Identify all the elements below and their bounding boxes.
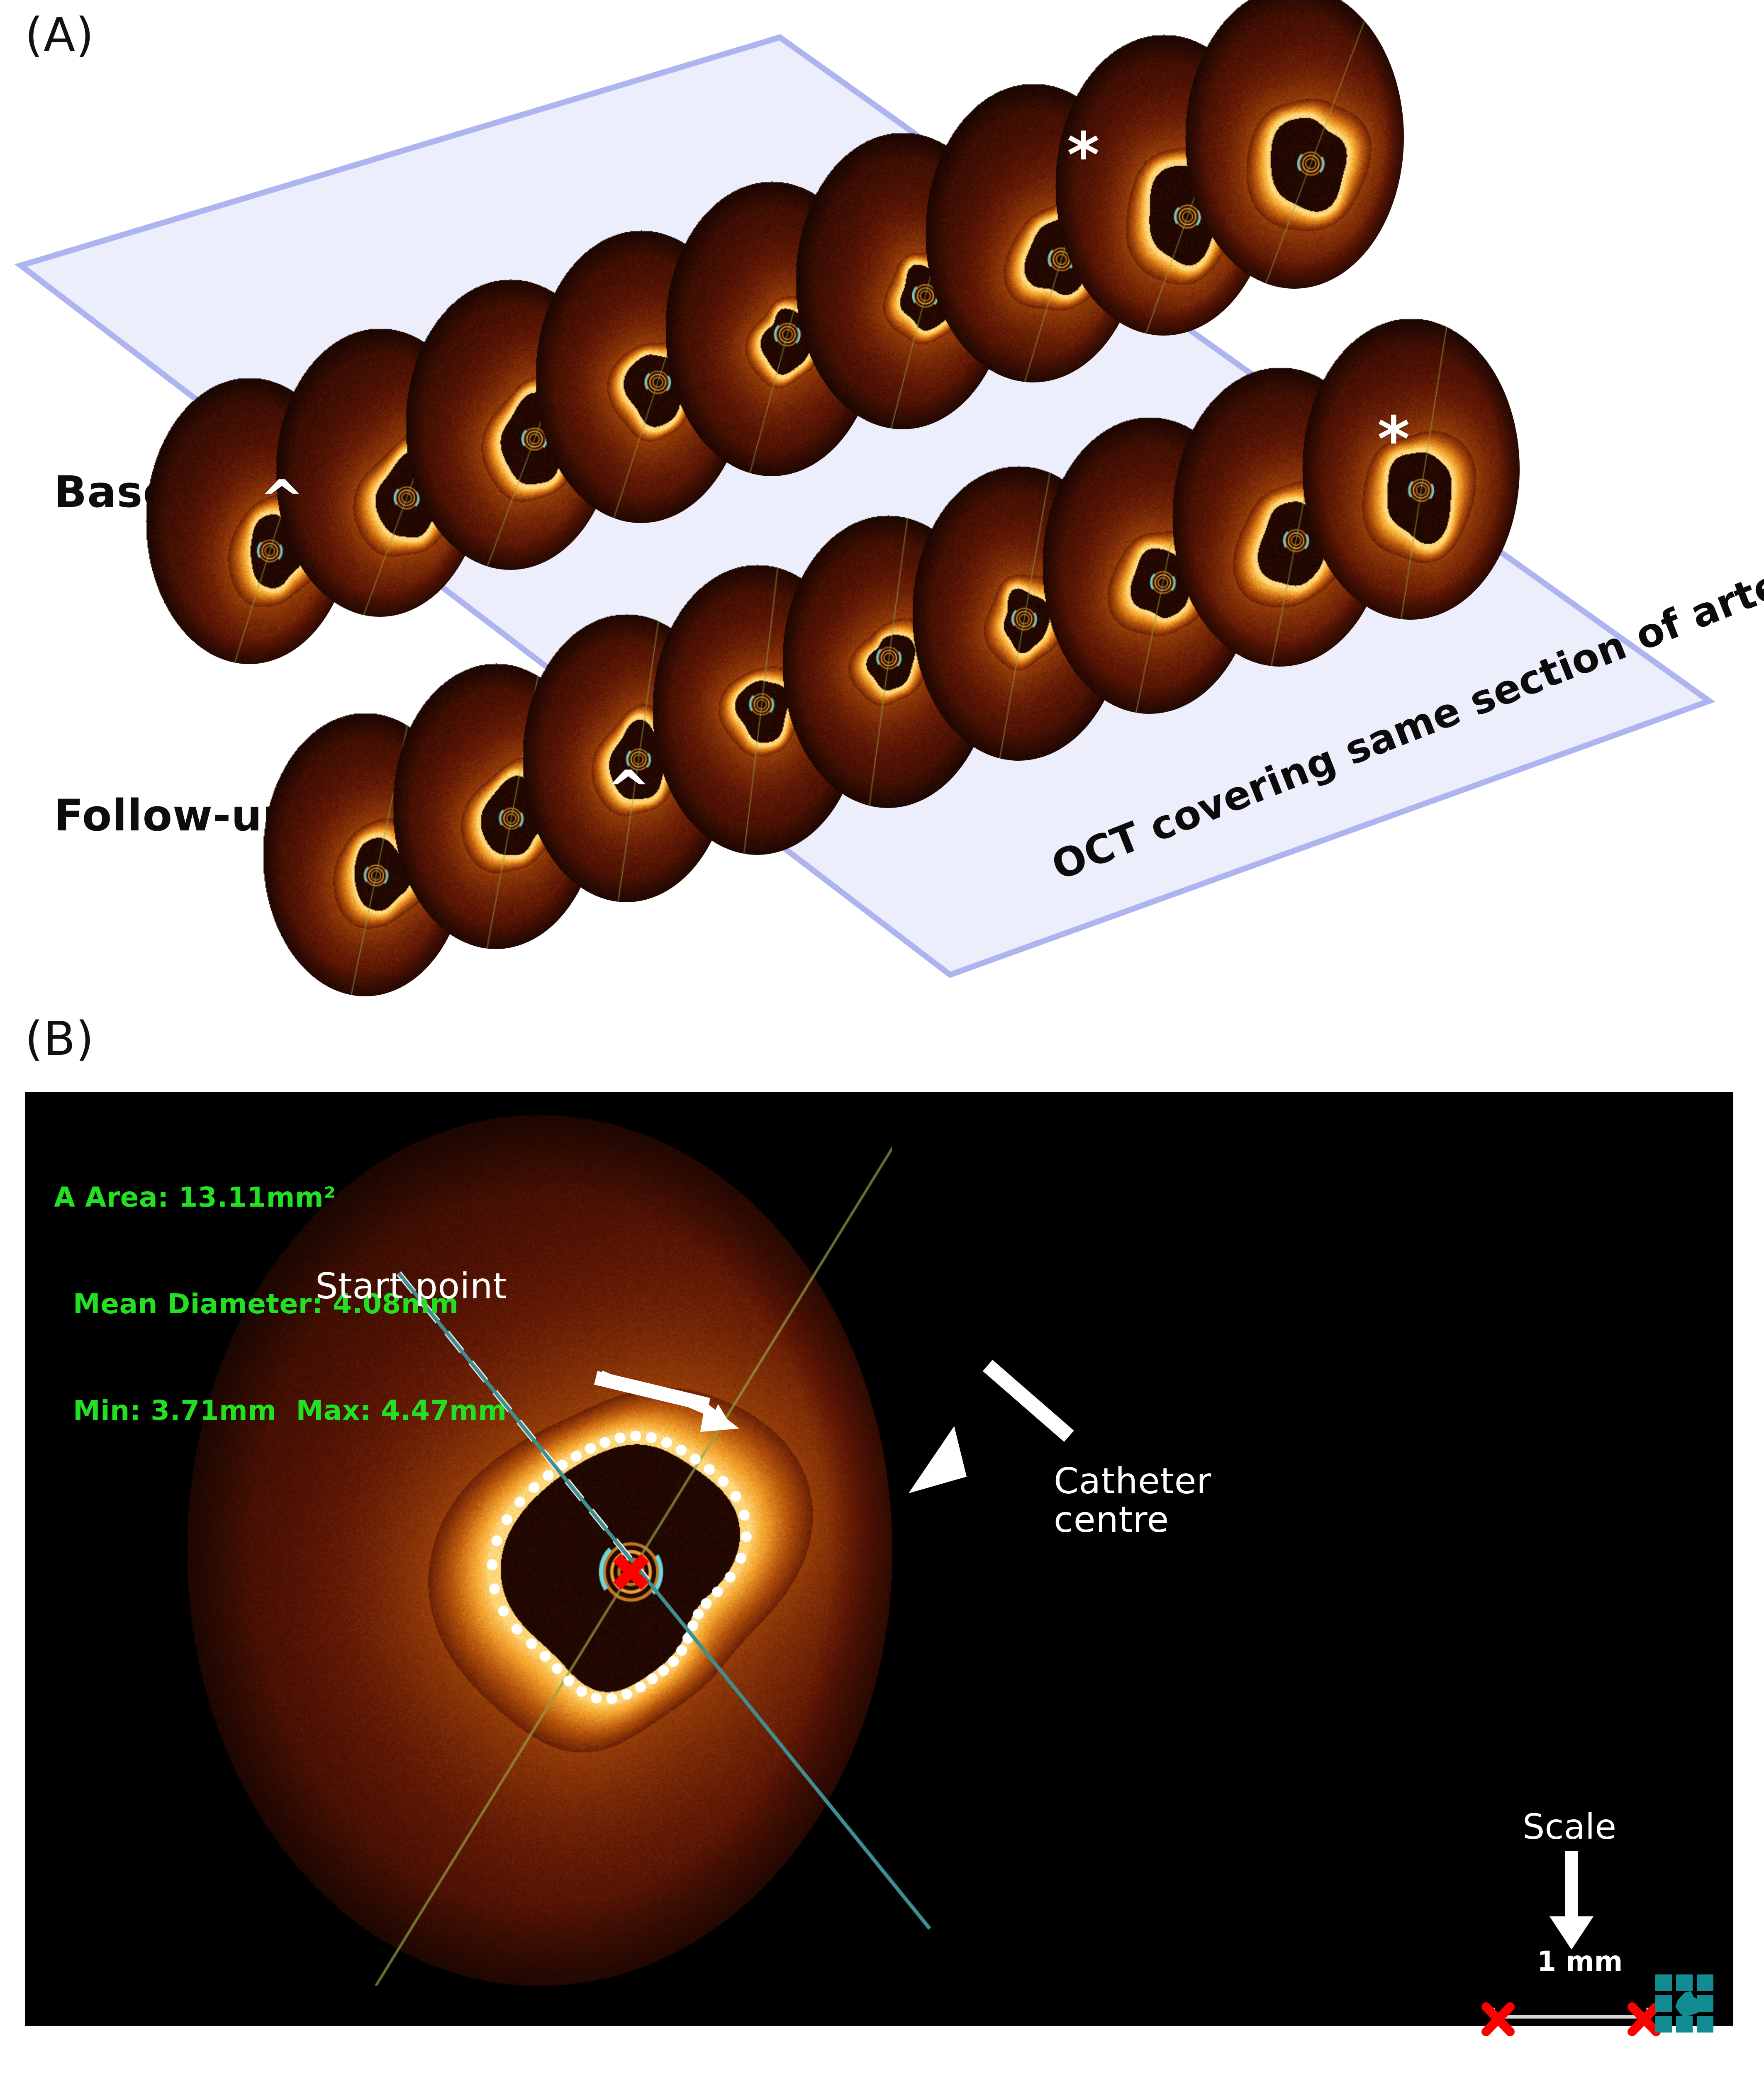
caret-marker-followup: ^	[606, 763, 651, 817]
start-point-label: Start point	[315, 1267, 507, 1306]
catheter-centre-line1: Catheter	[1054, 1462, 1211, 1501]
teal-grid-icon[interactable]	[1655, 1974, 1713, 2033]
measurement-area: A Area: 13.11mm²	[54, 1180, 507, 1215]
grid-cell	[1676, 1974, 1693, 1991]
panel-b-oct-viewer[interactable]: A Area: 13.11mm² Mean Diameter: 4.08mm M…	[25, 1092, 1733, 2026]
grid-cell	[1655, 2016, 1672, 2033]
grid-blob-icon	[1672, 1990, 1701, 2019]
panel-b-label: (B)	[25, 1012, 94, 1066]
caret-marker-baseline: ^	[259, 473, 305, 527]
grid-cell	[1697, 1974, 1713, 1991]
scale-value-label: 1 mm	[1537, 1945, 1623, 1977]
catheter-centre-label: Catheter centre	[1054, 1462, 1211, 1539]
grid-cell	[1655, 1974, 1672, 1991]
panel-a: (A) Baseline Follow-up OCT covering same…	[0, 0, 1764, 1045]
asterisk-marker-baseline: *	[1067, 124, 1099, 187]
grid-cell	[1655, 1995, 1672, 2012]
oct-slice-baseline-9	[1185, 0, 1404, 289]
oct-slice-followup-9	[1302, 318, 1520, 620]
catheter-centre-line2: centre	[1054, 1501, 1211, 1539]
scale-label: Scale	[1523, 1806, 1616, 1847]
asterisk-marker-followup: *	[1377, 409, 1410, 471]
measurement-min-max: Min: 3.71mm Max: 4.47mm	[54, 1393, 507, 1429]
